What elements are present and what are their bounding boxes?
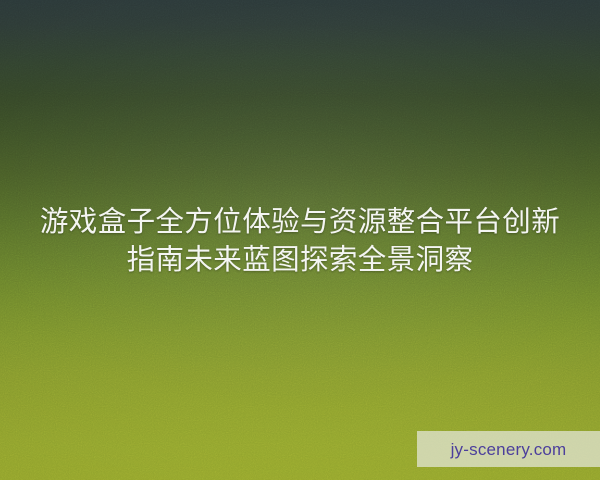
banner-title: 游戏盒子全方位体验与资源整合平台创新 指南未来蓝图探索全景洞察 [0,203,600,279]
watermark-text: jy-scenery.com [451,441,567,458]
banner-image: 游戏盒子全方位体验与资源整合平台创新 指南未来蓝图探索全景洞察 jy-scene… [0,0,600,480]
watermark-badge: jy-scenery.com [417,431,600,467]
title-line-1: 游戏盒子全方位体验与资源整合平台创新 [18,203,582,241]
title-line-2: 指南未来蓝图探索全景洞察 [18,241,582,279]
